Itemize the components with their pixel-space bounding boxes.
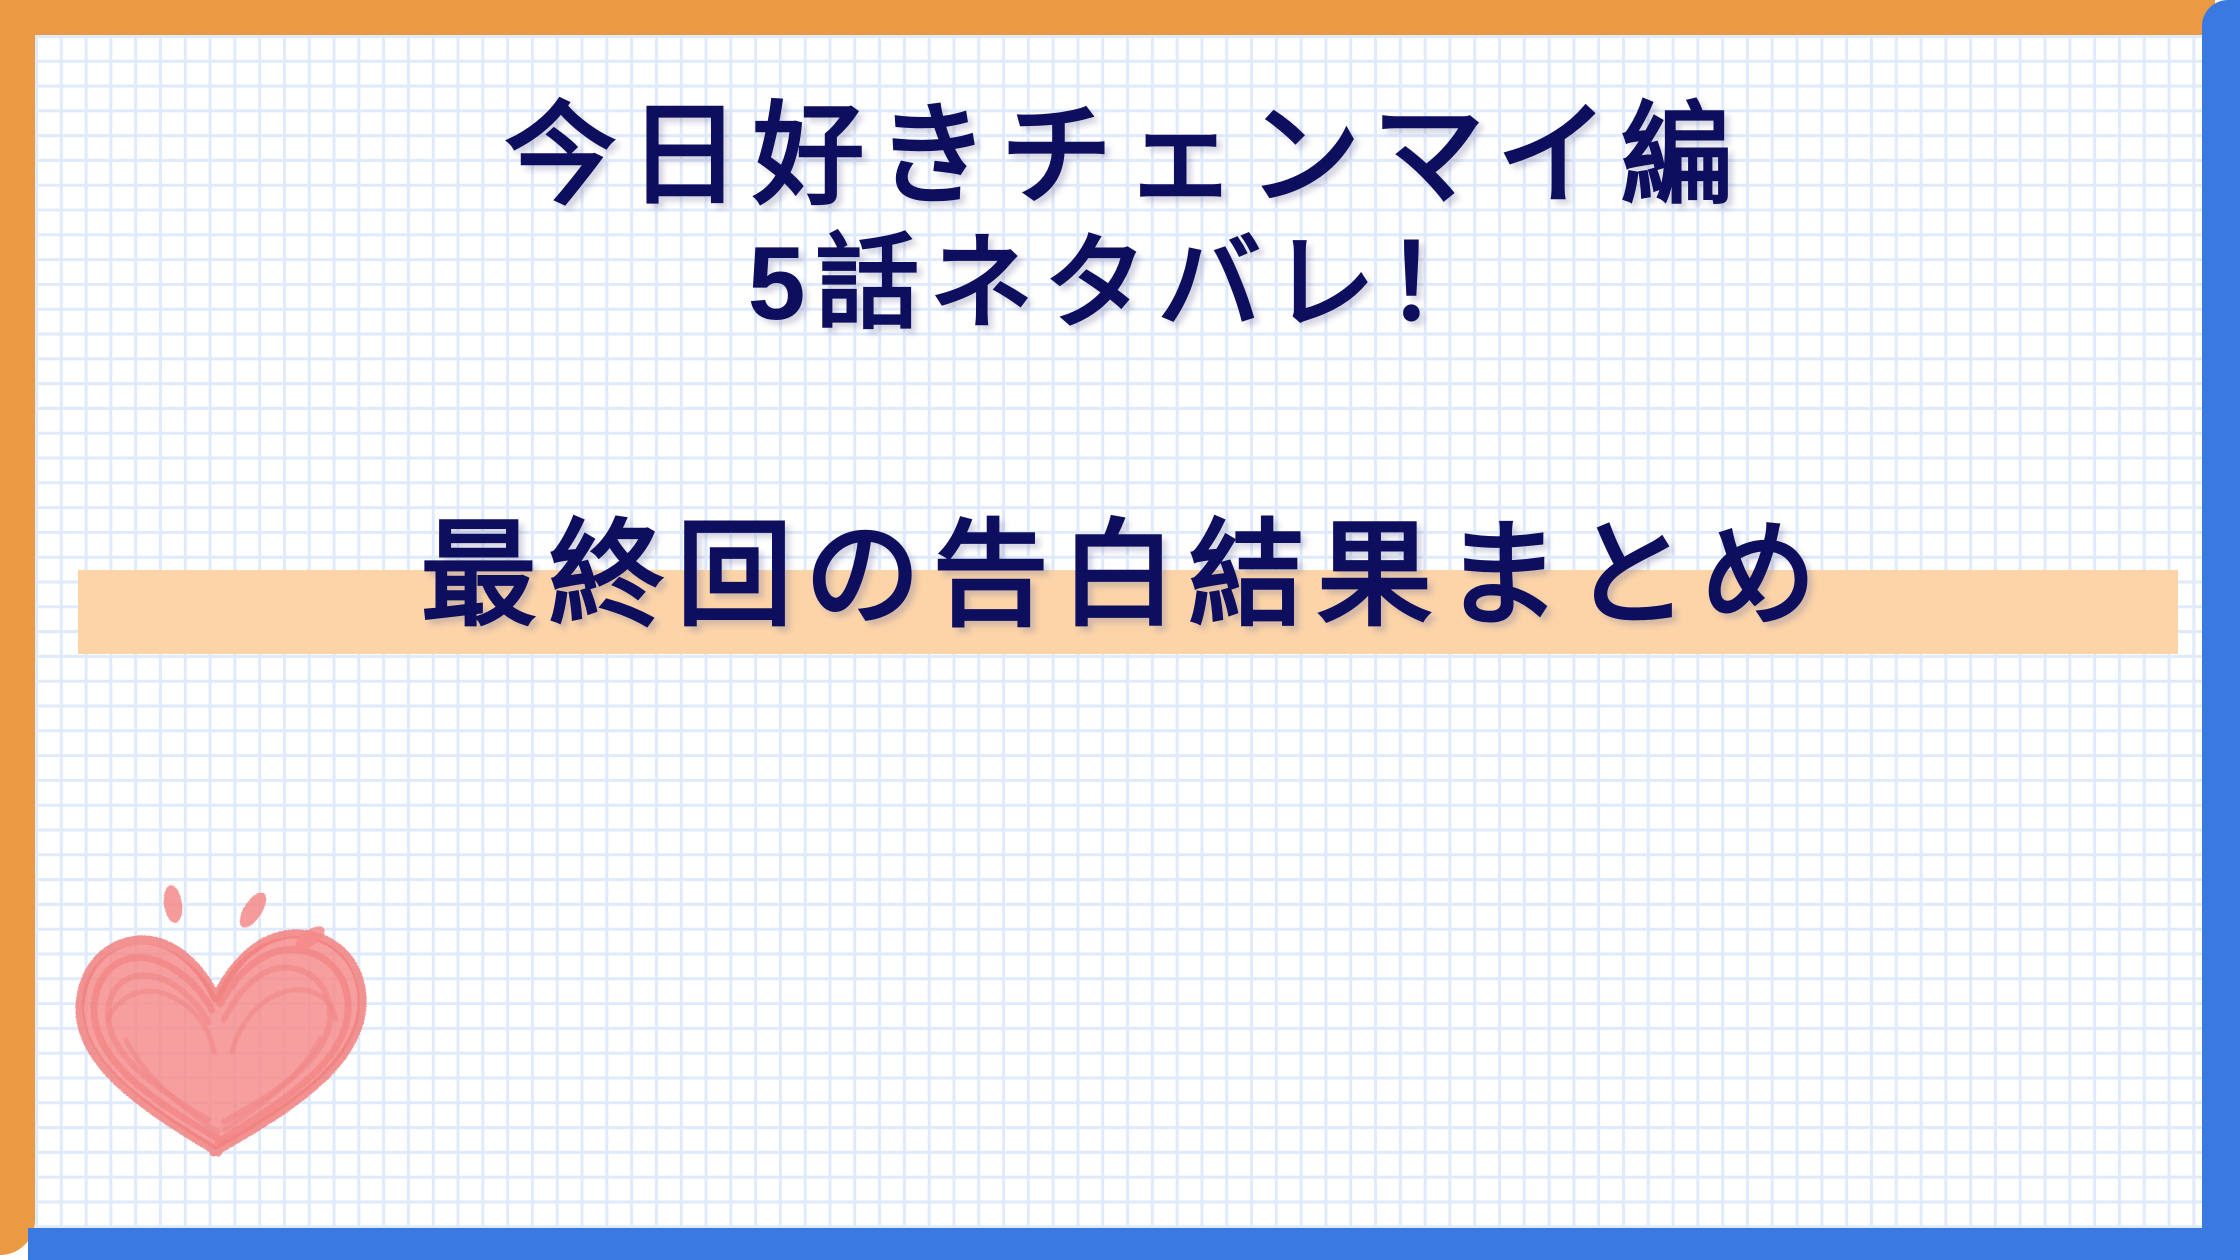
title-line-1: 今日好きチェンマイ編 (35, 100, 2202, 212)
frame-bar-top-orange (0, 0, 2215, 35)
frame-bar-right-blue (2202, 0, 2240, 1260)
title-line-2: 5話ネタバレ！ (35, 232, 2202, 336)
thumbnail-canvas: 今日好きチェンマイ編 5話ネタバレ！ 最終回の告白結果まとめ (0, 0, 2240, 1260)
frame-bar-bottom-blue (28, 1228, 2240, 1260)
subtitle-line-1: 最終回の告白結果まとめ (35, 517, 2202, 633)
frame-bar-left-orange (0, 0, 35, 1255)
